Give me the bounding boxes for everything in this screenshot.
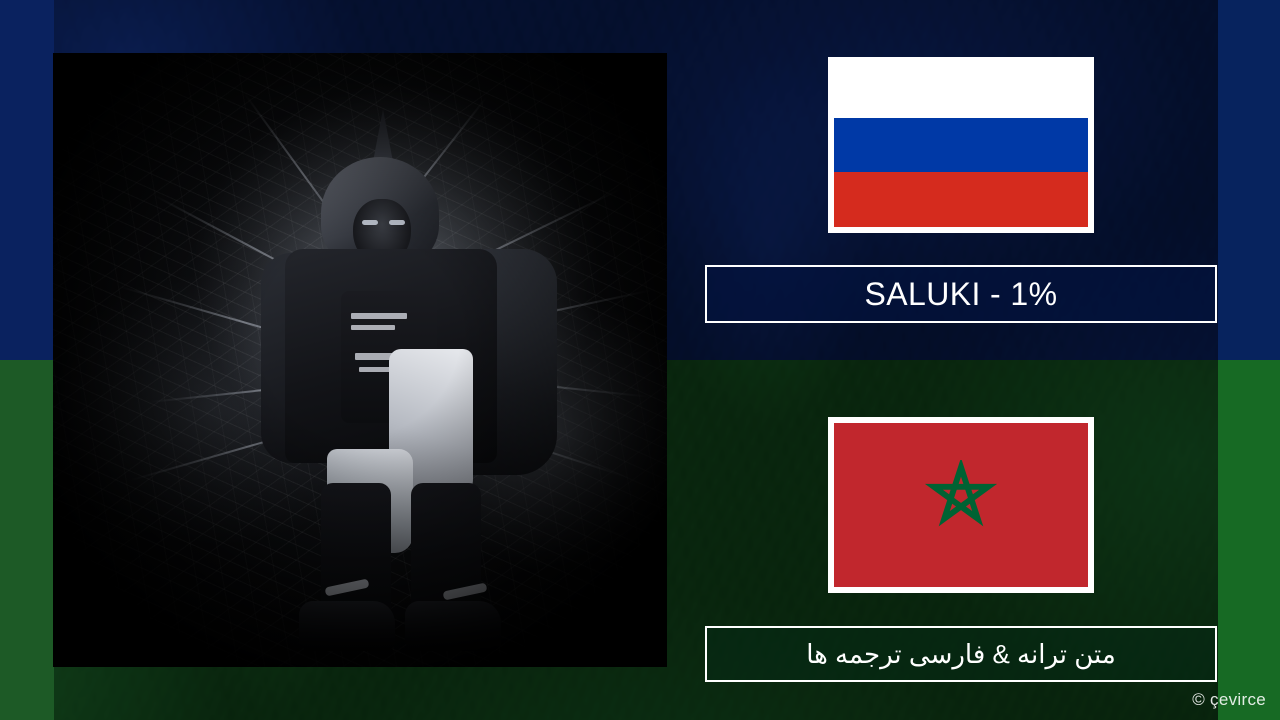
album-cover-vignette xyxy=(53,53,667,667)
lyrics-translation-label: متن ترانه & فارسی ترجمه ها xyxy=(806,639,1116,670)
russia-flag-blue-band xyxy=(834,118,1088,173)
lyrics-translation-panel: متن ترانه & فارسی ترجمه ها xyxy=(705,626,1217,682)
background-edge-right-bottom xyxy=(1218,360,1280,720)
russia-flag-white-band xyxy=(834,63,1088,118)
morocco-flag xyxy=(834,423,1088,587)
page-title: SALUKI - 1% xyxy=(865,276,1058,313)
russia-flag xyxy=(834,63,1088,227)
watermark: © çevirce xyxy=(1192,690,1266,710)
background-edge-right-top xyxy=(1218,0,1280,360)
morocco-flag-field xyxy=(834,423,1088,587)
copyright-icon: © xyxy=(1192,690,1205,710)
watermark-brand: çevirce xyxy=(1210,690,1266,710)
target-language-flag[interactable] xyxy=(828,417,1094,593)
song-title-panel: SALUKI - 1% xyxy=(705,265,1217,323)
screenshot-stage: SALUKI - 1% متن ترانه & فارسی ترجمه ها ©… xyxy=(0,0,1280,720)
background-edge-left-top xyxy=(0,0,54,360)
source-language-flag[interactable] xyxy=(828,57,1094,233)
morocco-pentagram-icon xyxy=(916,460,1006,550)
background-edge-left-bottom xyxy=(0,360,54,720)
russia-flag-red-band xyxy=(834,172,1088,227)
album-cover-artwork xyxy=(53,53,667,667)
